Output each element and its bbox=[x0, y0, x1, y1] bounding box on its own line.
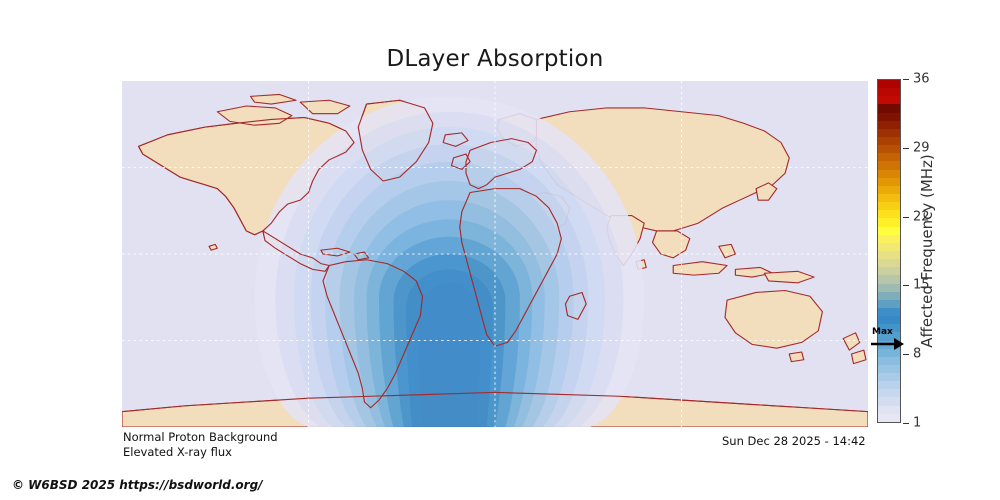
copyright-notice: © W6BSD 2025 https://bsdworld.org/ bbox=[12, 478, 263, 492]
colorbar-segment bbox=[878, 259, 900, 267]
colorbar-segment bbox=[878, 194, 900, 202]
colorbar-segment bbox=[878, 308, 900, 316]
colorbar-gradient bbox=[877, 79, 901, 423]
colorbar-tick-label: 29 bbox=[913, 140, 930, 155]
colorbar-segment bbox=[878, 284, 900, 292]
colorbar-segment bbox=[878, 113, 900, 121]
colorbar-segment bbox=[878, 121, 900, 129]
colorbar-tick-mark bbox=[903, 217, 909, 218]
colorbar-tick-mark bbox=[903, 354, 909, 355]
colorbar-segment bbox=[878, 88, 900, 96]
colorbar-segment bbox=[878, 389, 900, 397]
colorbar-segment bbox=[878, 235, 900, 243]
colorbar-segment bbox=[878, 80, 900, 88]
colorbar-segment bbox=[878, 414, 900, 422]
colorbar-segment bbox=[878, 202, 900, 210]
colorbar-tick-label: 1 bbox=[913, 416, 921, 431]
colorbar-segment bbox=[878, 373, 900, 381]
max-marker-label: Max bbox=[872, 327, 893, 337]
note-xray-flux: Elevated X-ray flux bbox=[123, 445, 232, 459]
colorbar-tick-label: 22 bbox=[913, 209, 930, 224]
colorbar-segment bbox=[878, 178, 900, 186]
colorbar[interactable] bbox=[877, 79, 901, 423]
colorbar-segment bbox=[878, 365, 900, 373]
colorbar-segment bbox=[878, 397, 900, 405]
colorbar-segment bbox=[878, 251, 900, 259]
colorbar-segment bbox=[878, 381, 900, 389]
colorbar-segment bbox=[878, 161, 900, 169]
colorbar-tick-mark bbox=[903, 79, 909, 80]
world-map bbox=[122, 81, 868, 427]
colorbar-segment bbox=[878, 145, 900, 153]
colorbar-segment bbox=[878, 243, 900, 251]
colorbar-tick-label: 15 bbox=[913, 278, 930, 293]
colorbar-segment bbox=[878, 137, 900, 145]
colorbar-tick-mark bbox=[903, 148, 909, 149]
colorbar-segment bbox=[878, 104, 900, 112]
colorbar-segment bbox=[878, 96, 900, 104]
colorbar-segment bbox=[878, 316, 900, 324]
timestamp: Sun Dec 28 2025 - 14:42 bbox=[722, 434, 866, 448]
colorbar-segment bbox=[878, 292, 900, 300]
colorbar-segment bbox=[878, 357, 900, 365]
colorbar-segment bbox=[878, 300, 900, 308]
colorbar-segment bbox=[878, 227, 900, 235]
colorbar-segment bbox=[878, 153, 900, 161]
colorbar-axis-label-text: Affected Frequency (MHz) bbox=[918, 154, 936, 348]
colorbar-segment bbox=[878, 170, 900, 178]
colorbar-tick-label: 8 bbox=[913, 347, 921, 362]
colorbar-axis-label: Affected Frequency (MHz) bbox=[915, 79, 939, 423]
colorbar-tick-mark bbox=[903, 423, 909, 424]
colorbar-segment bbox=[878, 218, 900, 226]
map-panel[interactable] bbox=[122, 81, 868, 427]
colorbar-segment bbox=[878, 406, 900, 414]
colorbar-tick-label: 36 bbox=[913, 72, 930, 87]
colorbar-segment bbox=[878, 210, 900, 218]
note-proton-background: Normal Proton Background bbox=[123, 430, 278, 444]
colorbar-segment bbox=[878, 186, 900, 194]
colorbar-segment bbox=[878, 275, 900, 283]
colorbar-segment bbox=[878, 129, 900, 137]
page-title: DLayer Absorption bbox=[0, 46, 990, 72]
max-marker: Max bbox=[870, 328, 904, 354]
colorbar-tick-mark bbox=[903, 285, 909, 286]
colorbar-segment bbox=[878, 267, 900, 275]
